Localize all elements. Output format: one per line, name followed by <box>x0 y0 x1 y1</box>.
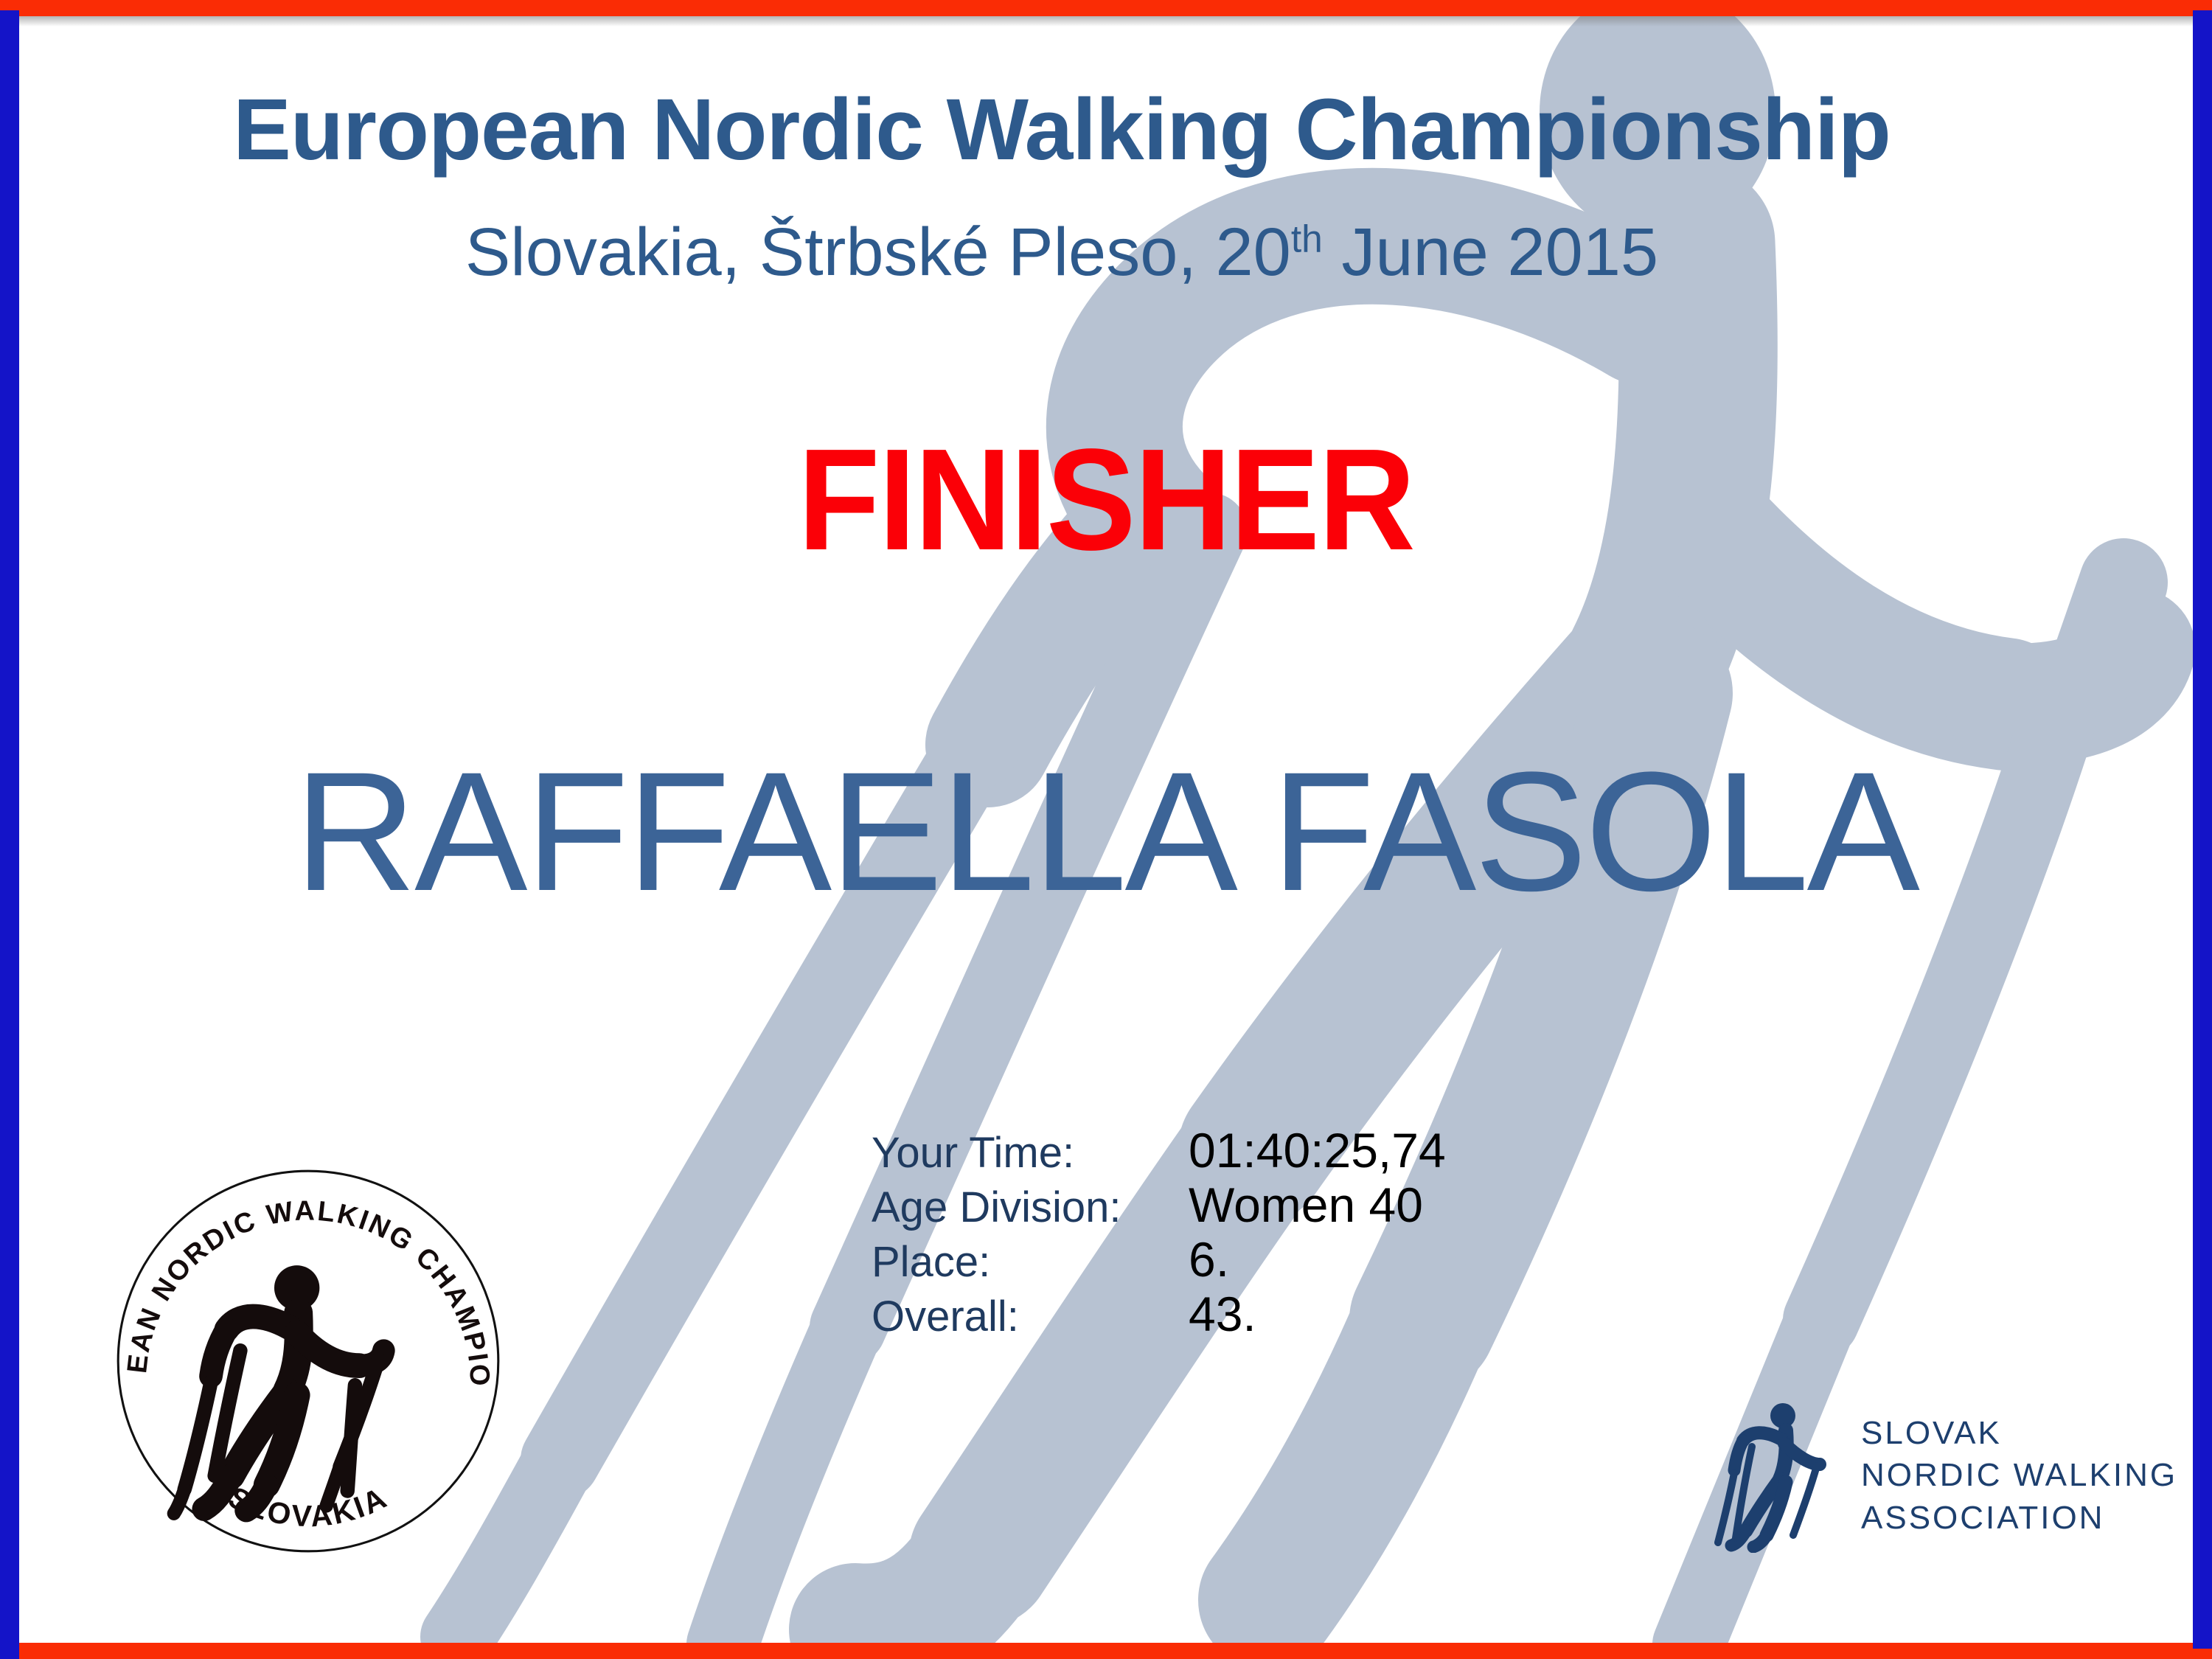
border-left <box>0 10 19 1659</box>
result-value-your-time: 01:40:25,74 <box>1189 1122 1446 1178</box>
location-date-prefix: Slovakia, Štrbské Pleso, 20 <box>465 215 1291 290</box>
result-value-overall: 43. <box>1189 1286 1256 1342</box>
ordinal-suffix: th <box>1291 217 1323 260</box>
results-row: Age Division: Women 40 <box>872 1177 1446 1231</box>
association-line-2: NORDIC WALKING <box>1861 1454 2177 1496</box>
event-location-date: Slovakia, Štrbské Pleso, 20th June 2015 <box>0 214 2124 291</box>
result-label-your-time: Your Time: <box>872 1128 1189 1178</box>
border-right <box>2193 10 2212 1649</box>
certificate-page: European Nordic Walking Championship Slo… <box>0 0 2212 1659</box>
association-name: SLOVAK NORDIC WALKING ASSOCIATION <box>1861 1412 2177 1539</box>
location-date-suffix: June 2015 <box>1323 215 1658 290</box>
nordic-walker-icon <box>1703 1398 1836 1553</box>
results-row: Your Time: 01:40:25,74 <box>872 1122 1446 1177</box>
result-label-place: Place: <box>872 1237 1189 1287</box>
results-block: Your Time: 01:40:25,74 Age Division: Wom… <box>872 1122 1446 1340</box>
top-shadow <box>19 16 2193 27</box>
results-row: Place: 6. <box>872 1231 1446 1286</box>
association-logo: SLOVAK NORDIC WALKING ASSOCIATION <box>1703 1394 2190 1557</box>
result-label-overall: Overall: <box>872 1292 1189 1341</box>
association-line-1: SLOVAK <box>1861 1412 2177 1454</box>
result-value-place: 6. <box>1189 1231 1229 1287</box>
result-value-age-division: Women 40 <box>1189 1177 1423 1233</box>
championship-logo: EUROPEAN NORDIC WALKING CHAMPIONSHIP SLO… <box>112 1164 504 1559</box>
athlete-name: RAFFAELLA FASOLA <box>0 734 2212 929</box>
border-top <box>0 0 2212 16</box>
event-title: European Nordic Walking Championship <box>0 80 2124 180</box>
result-label-age-division: Age Division: <box>872 1183 1189 1232</box>
status-finisher: FINISHER <box>77 417 2135 582</box>
results-row: Overall: 43. <box>872 1286 1446 1340</box>
association-line-3: ASSOCIATION <box>1861 1497 2177 1539</box>
border-bottom <box>0 1643 2212 1659</box>
